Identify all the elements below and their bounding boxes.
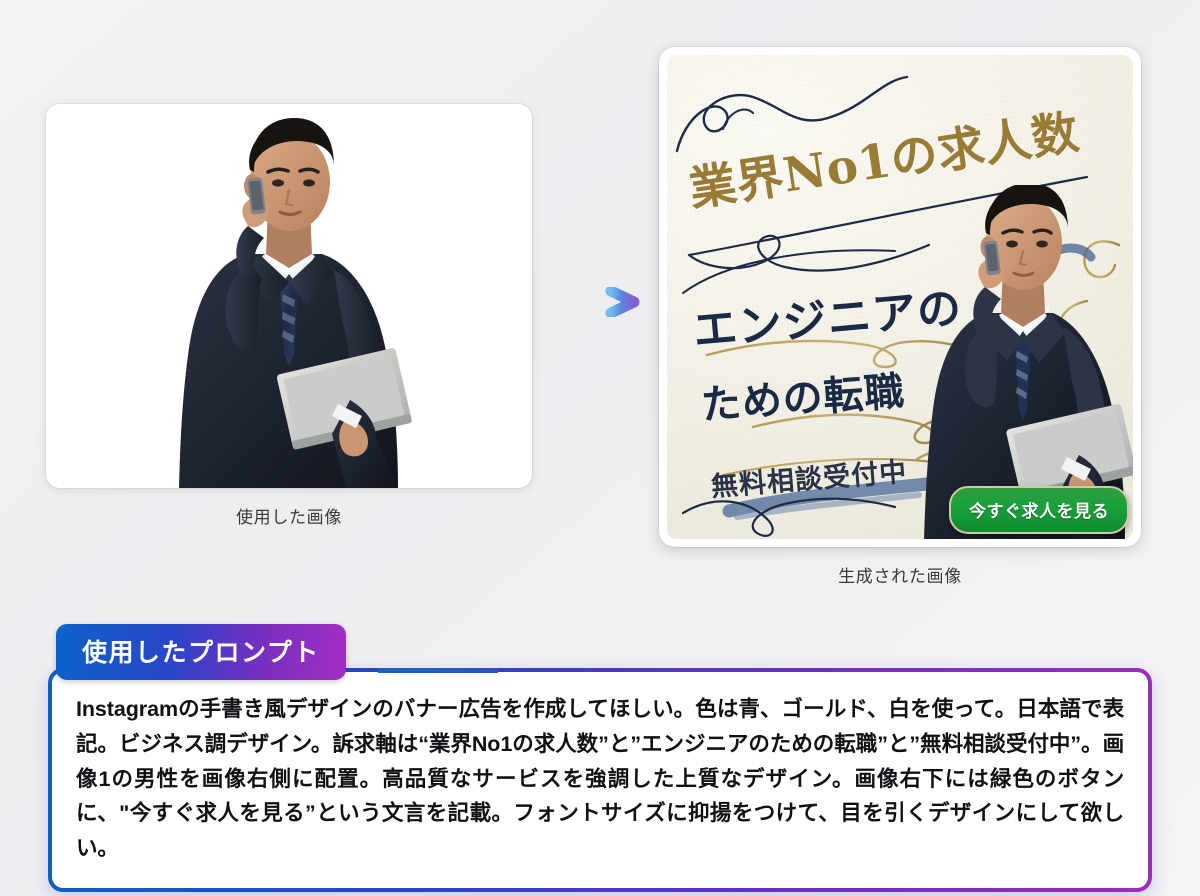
source-image-card[interactable]: [46, 104, 532, 488]
prompt-box-inner: Instagramの手書き風デザインのバナー広告を作成してほしい。色は青、ゴール…: [52, 672, 1148, 888]
source-photo: [46, 104, 532, 488]
prompt-panel: 使用したプロンプト Instagramの手書き風デザインのバナー広告を作成してほ…: [48, 624, 1152, 892]
source-image-caption: 使用した画像: [46, 503, 532, 528]
right-arrow-icon: [545, 287, 643, 317]
banner-canvas: 業界No1の求人数 エンジニアの ための転職 無料相談受付中 今すぐ求人を見る: [667, 55, 1133, 539]
generated-image-caption: 生成された画像: [660, 562, 1140, 587]
generated-image-card[interactable]: 業界No1の求人数 エンジニアの ための転職 無料相談受付中 今すぐ求人を見る: [659, 47, 1141, 547]
prompt-body-text: Instagramの手書き風デザインのバナー広告を作成してほしい。色は青、ゴール…: [76, 692, 1124, 866]
badge-tail-line: [378, 668, 498, 673]
prompt-badge: 使用したプロンプト: [56, 624, 346, 680]
prompt-box: Instagramの手書き風デザインのバナー広告を作成してほしい。色は青、ゴール…: [48, 668, 1152, 892]
banner-cta-button[interactable]: 今すぐ求人を見る: [949, 486, 1129, 534]
page-root: 使用した画像: [0, 0, 1200, 896]
businessman-illustration: [46, 104, 532, 488]
